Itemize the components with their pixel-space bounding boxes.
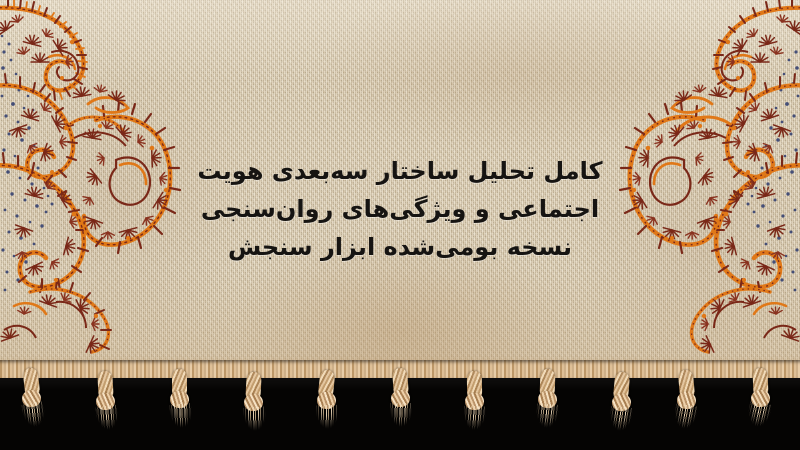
tassel (607, 372, 637, 450)
tassel-tuft (670, 403, 698, 449)
tassel (17, 368, 47, 446)
tassel (460, 371, 490, 449)
tassel (312, 370, 342, 448)
tassel-tuft (390, 403, 412, 438)
fringe-row (0, 360, 800, 450)
tassel-tuft (744, 401, 772, 440)
tassel-tuft (95, 404, 122, 446)
tassel-tuft (22, 401, 50, 438)
tassel-tuft (316, 405, 339, 448)
textile-photo: کامل تحلیل ساختار سه‌بعدی هویت اجتماعی و… (0, 0, 800, 450)
tassel-tuft (169, 403, 195, 449)
tassel (239, 372, 269, 450)
tassel-tuft (243, 406, 268, 444)
tassel (91, 371, 121, 449)
caption-line-2: اجتماعی و ویژگی‌های روان‌سنجی (0, 190, 800, 228)
caption-block: کامل تحلیل ساختار سه‌بعدی هویت اجتماعی و… (0, 152, 800, 266)
tassel (746, 368, 776, 446)
caption-line-1: کامل تحلیل ساختار سه‌بعدی هویت (0, 152, 800, 190)
caption-line-3: نسخه بومی‌شده ابزار سنجش (0, 228, 800, 266)
tassel-tuft (534, 403, 559, 449)
tassel-tuft (462, 406, 485, 447)
tassel-tuft (607, 406, 633, 446)
tassel (533, 369, 563, 447)
tassel (672, 370, 702, 448)
tassel (165, 369, 195, 447)
tassel (386, 368, 416, 446)
